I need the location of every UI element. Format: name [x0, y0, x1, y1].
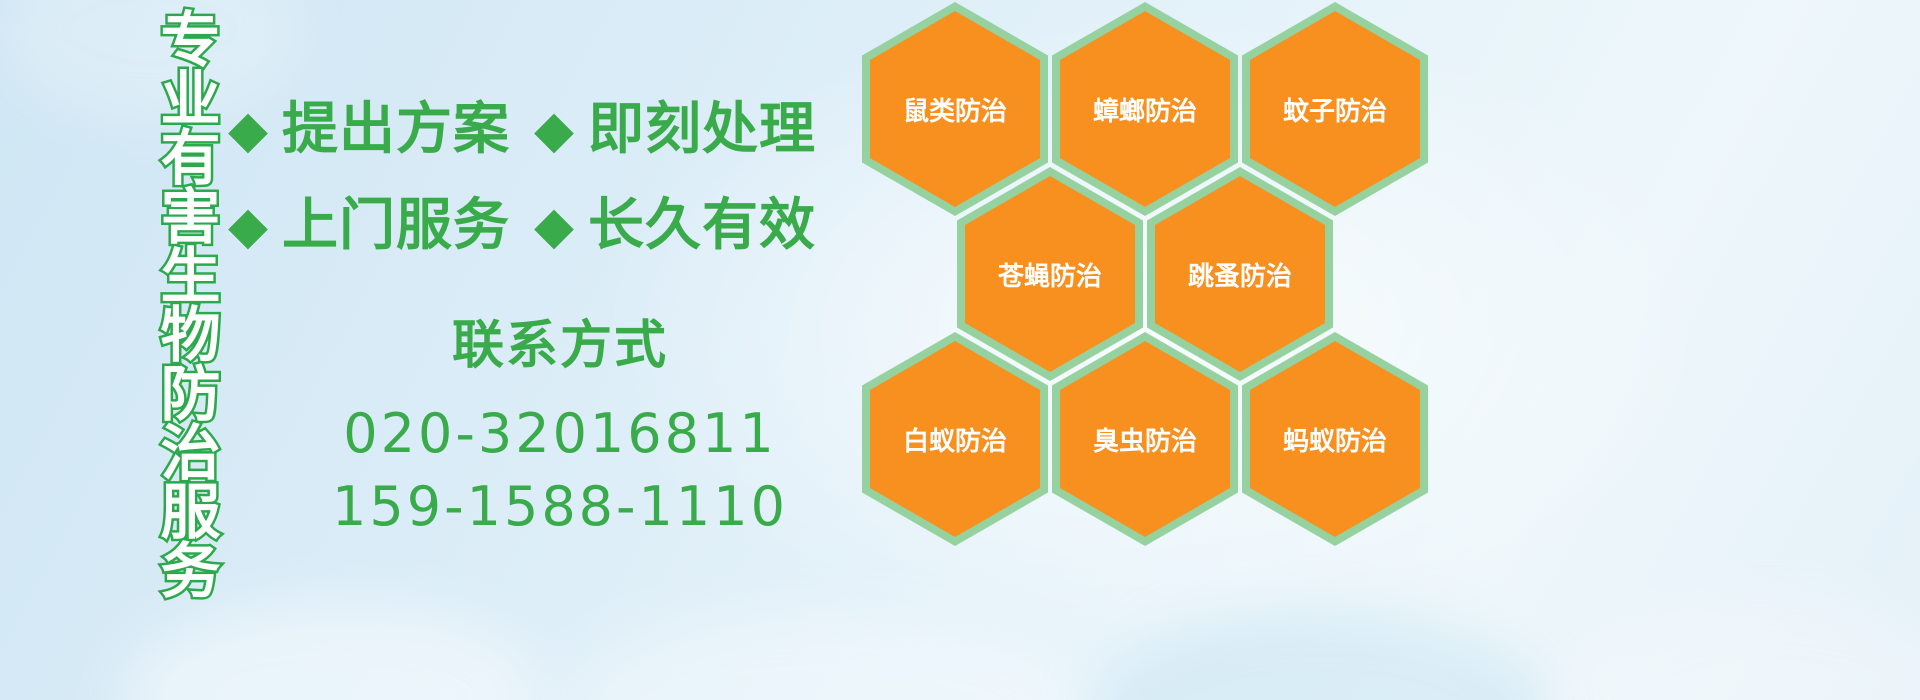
hexagon-inner: 臭虫防治 [1060, 341, 1230, 537]
pest-control-banner: 专业有害生物防治服务 ◆ 提出方案 ◆ 即刻处理 ◆ 上门服务 ◆ 长久有效 联… [0, 0, 1920, 700]
phone-number-landline[interactable]: 020-32016811 [240, 398, 880, 471]
hexagon-inner: 白蚁防治 [870, 341, 1040, 537]
feature-label: 长久有效 [588, 198, 816, 254]
vertical-headline: 专业有害生物防治服务 [103, 8, 215, 588]
service-label: 蚂蚁防治 [1283, 421, 1387, 458]
service-hexagon-fly[interactable]: 苍蝇防治 [957, 167, 1143, 381]
feature-list: ◆ 提出方案 ◆ 即刻处理 ◆ 上门服务 ◆ 长久有效 [228, 82, 868, 274]
hexagon-inner: 鼠类防治 [870, 11, 1040, 207]
diamond-bullet-icon: ◆ [534, 104, 574, 156]
service-label: 苍蝇防治 [998, 256, 1102, 293]
hexagon-inner: 蚂蚁防治 [1250, 341, 1420, 537]
service-hexagon-termite[interactable]: 白蚁防治 [862, 332, 1048, 546]
service-label: 蟑螂防治 [1093, 91, 1197, 128]
feature-label: 即刻处理 [588, 102, 816, 158]
hexagon-inner: 跳蚤防治 [1155, 176, 1325, 372]
service-hexagon-ant[interactable]: 蚂蚁防治 [1242, 332, 1428, 546]
background-blob [1560, 600, 1920, 700]
phone-number-mobile[interactable]: 159-1588-1110 [240, 471, 880, 544]
diamond-bullet-icon: ◆ [228, 104, 268, 156]
service-label: 蚊子防治 [1283, 91, 1387, 128]
contact-block: 联系方式 020-32016811 159-1588-1110 [240, 320, 880, 544]
service-hexagon-mosquito[interactable]: 蚊子防治 [1242, 2, 1428, 216]
service-hexagon-cockroach[interactable]: 蟑螂防治 [1052, 2, 1238, 216]
feature-label: 提出方案 [282, 102, 510, 158]
service-hexagon-bedbug[interactable]: 臭虫防治 [1052, 332, 1238, 546]
diamond-bullet-icon: ◆ [534, 200, 574, 252]
service-label: 臭虫防治 [1093, 421, 1197, 458]
diamond-bullet-icon: ◆ [228, 200, 268, 252]
service-label: 跳蚤防治 [1188, 256, 1292, 293]
service-hexagon-flea[interactable]: 跳蚤防治 [1147, 167, 1333, 381]
background-blob [120, 600, 540, 700]
feature-row: ◆ 上门服务 ◆ 长久有效 [228, 178, 868, 274]
service-hexagon-rodent[interactable]: 鼠类防治 [862, 2, 1048, 216]
service-hexagon-grid: 鼠类防治 蟑螂防治 蚊子防治 苍蝇防治 跳蚤防治 白蚁防治 [862, 0, 1462, 558]
feature-row: ◆ 提出方案 ◆ 即刻处理 [228, 82, 868, 178]
feature-label: 上门服务 [282, 198, 510, 254]
background-blob [1090, 610, 1550, 700]
hexagon-inner: 苍蝇防治 [965, 176, 1135, 372]
hexagon-inner: 蚊子防治 [1250, 11, 1420, 207]
service-label: 鼠类防治 [903, 91, 1007, 128]
hexagon-inner: 蟑螂防治 [1060, 11, 1230, 207]
background-blob [560, 610, 1080, 700]
service-label: 白蚁防治 [903, 421, 1007, 458]
contact-title: 联系方式 [240, 320, 880, 372]
